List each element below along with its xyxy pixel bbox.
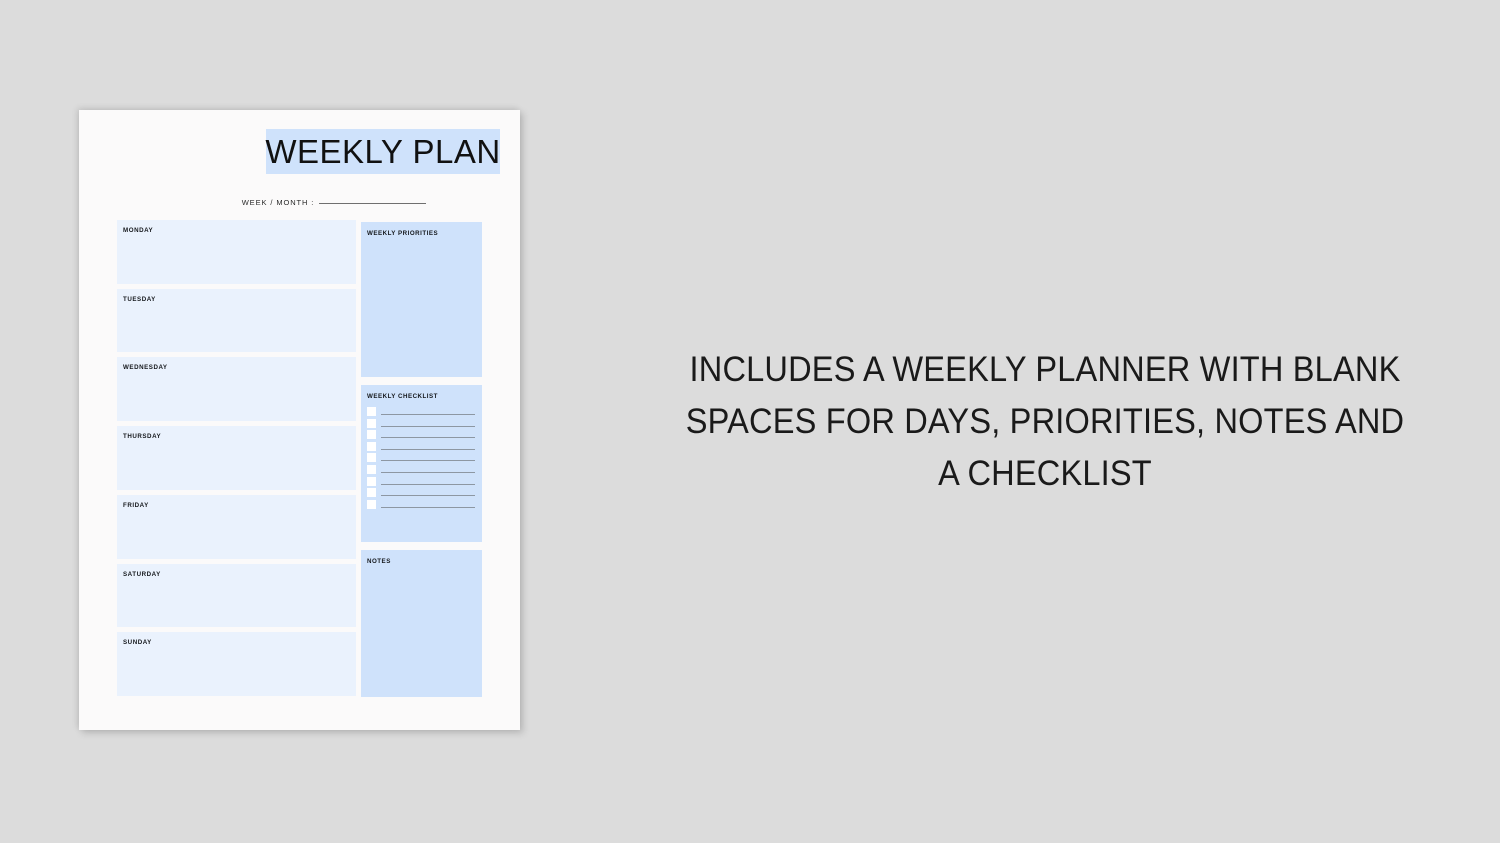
checklist-row[interactable] <box>367 488 475 497</box>
day-block-tuesday[interactable]: TUESDAY <box>117 289 356 353</box>
checklist-row[interactable] <box>367 453 475 462</box>
caption-line: SPACES FOR DAYS, PRIORITIES, NOTES AND <box>668 396 1421 448</box>
checklist-write-line[interactable] <box>381 484 475 485</box>
checklist-write-line[interactable] <box>381 437 475 438</box>
checklist-write-line[interactable] <box>381 426 475 427</box>
day-label: THURSDAY <box>123 433 356 440</box>
checklist-row[interactable] <box>367 500 475 509</box>
checklist-rows <box>367 407 475 509</box>
caption-line: INCLUDES A WEEKLY PLANNER WITH BLANK <box>668 344 1421 396</box>
checklist-row[interactable] <box>367 407 475 416</box>
notes-title: NOTES <box>367 558 482 565</box>
checklist-write-line[interactable] <box>381 460 475 461</box>
day-block-thursday[interactable]: THURSDAY <box>117 426 356 490</box>
checkbox-icon[interactable] <box>367 477 376 486</box>
day-block-sunday[interactable]: SUNDAY <box>117 632 356 696</box>
page-title: WEEKLY PLAN <box>265 135 500 168</box>
checklist-write-line[interactable] <box>381 507 475 508</box>
side-column: WEEKLY PRIORITIES WEEKLY CHECKLIST NOTES <box>361 222 482 696</box>
day-label: WEDNESDAY <box>123 364 356 371</box>
planner-page: WEEKLY PLAN WEEK / MONTH : MONDAY TUESDA… <box>79 110 520 730</box>
checkbox-icon[interactable] <box>367 500 376 509</box>
checkbox-icon[interactable] <box>367 430 376 439</box>
day-label: SUNDAY <box>123 639 356 646</box>
day-block-saturday[interactable]: SATURDAY <box>117 564 356 628</box>
checkbox-icon[interactable] <box>367 488 376 497</box>
caption-line: A CHECKLIST <box>668 448 1421 500</box>
checklist-write-line[interactable] <box>381 472 475 473</box>
day-label: SATURDAY <box>123 571 356 578</box>
day-label: FRIDAY <box>123 502 356 509</box>
checklist-row[interactable] <box>367 442 475 451</box>
checkbox-icon[interactable] <box>367 453 376 462</box>
weekly-checklist-title: WEEKLY CHECKLIST <box>367 393 482 400</box>
notes-panel[interactable]: NOTES <box>361 550 482 697</box>
weekly-priorities-panel[interactable]: WEEKLY PRIORITIES <box>361 222 482 377</box>
caption-block: INCLUDES A WEEKLY PLANNER WITH BLANK SPA… <box>640 344 1450 500</box>
week-month-input-line[interactable] <box>319 203 426 204</box>
weekly-checklist-panel[interactable]: WEEKLY CHECKLIST <box>361 385 482 542</box>
day-label: TUESDAY <box>123 296 356 303</box>
week-month-label: WEEK / MONTH : <box>242 198 315 207</box>
day-block-monday[interactable]: MONDAY <box>117 220 356 284</box>
checklist-row[interactable] <box>367 419 475 428</box>
checklist-write-line[interactable] <box>381 449 475 450</box>
planner-body: MONDAY TUESDAY WEDNESDAY THURSDAY FRIDAY… <box>117 220 482 696</box>
day-label: MONDAY <box>123 227 356 234</box>
week-month-row: WEEK / MONTH : <box>189 198 479 207</box>
checklist-write-line[interactable] <box>381 495 475 496</box>
checklist-row[interactable] <box>367 465 475 474</box>
title-banner: WEEKLY PLAN <box>266 129 500 174</box>
checklist-row[interactable] <box>367 477 475 486</box>
checklist-write-line[interactable] <box>381 414 475 415</box>
day-block-wednesday[interactable]: WEDNESDAY <box>117 357 356 421</box>
checkbox-icon[interactable] <box>367 465 376 474</box>
day-block-friday[interactable]: FRIDAY <box>117 495 356 559</box>
checkbox-icon[interactable] <box>367 407 376 416</box>
days-column: MONDAY TUESDAY WEDNESDAY THURSDAY FRIDAY… <box>117 220 356 696</box>
checklist-row[interactable] <box>367 430 475 439</box>
checkbox-icon[interactable] <box>367 442 376 451</box>
checkbox-icon[interactable] <box>367 419 376 428</box>
weekly-priorities-title: WEEKLY PRIORITIES <box>367 230 482 237</box>
